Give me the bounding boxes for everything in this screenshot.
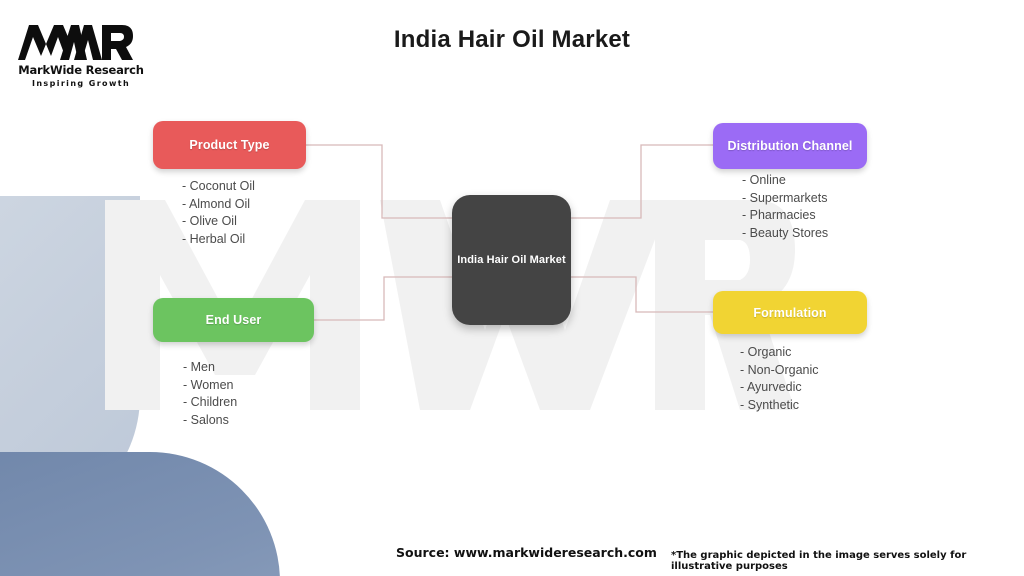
branch-node-end-user[interactable]: End User	[153, 298, 314, 342]
list-item: - Salons	[183, 412, 237, 430]
list-item: - Synthetic	[740, 397, 819, 415]
list-item: - Beauty Stores	[742, 225, 828, 243]
branch-items-distribution-channel: - Online - Supermarkets - Pharmacies - B…	[742, 172, 828, 242]
list-item: - Olive Oil	[182, 213, 255, 231]
branch-label-distribution-channel: Distribution Channel	[728, 139, 853, 153]
list-item: - Herbal Oil	[182, 231, 255, 249]
list-item: - Ayurvedic	[740, 379, 819, 397]
list-item: - Supermarkets	[742, 190, 828, 208]
list-item: - Pharmacies	[742, 207, 828, 225]
list-item: - Non-Organic	[740, 362, 819, 380]
branch-label-end-user: End User	[206, 313, 262, 327]
list-item: - Men	[183, 359, 237, 377]
list-item: - Women	[183, 377, 237, 395]
center-node-label: India Hair Oil Market	[457, 254, 565, 266]
list-item: - Organic	[740, 344, 819, 362]
disclaimer-text: *The graphic depicted in the image serve…	[671, 550, 1024, 572]
list-item: - Coconut Oil	[182, 178, 255, 196]
branch-items-formulation: - Organic - Non-Organic - Ayurvedic - Sy…	[740, 344, 819, 414]
branch-items-end-user: - Men - Women - Children - Salons	[183, 359, 237, 429]
branch-node-distribution-channel[interactable]: Distribution Channel	[713, 123, 867, 169]
diagram-canvas: MarkWide Research Inspiring Growth India…	[0, 0, 1024, 576]
branch-node-product-type[interactable]: Product Type	[153, 121, 306, 169]
branch-node-formulation[interactable]: Formulation	[713, 291, 867, 334]
branch-label-product-type: Product Type	[189, 138, 269, 152]
branch-items-product-type: - Coconut Oil - Almond Oil - Olive Oil -…	[182, 178, 255, 248]
center-node[interactable]: India Hair Oil Market	[452, 195, 571, 325]
list-item: - Children	[183, 394, 237, 412]
list-item: - Almond Oil	[182, 196, 255, 214]
source-text: Source: www.markwideresearch.com	[396, 545, 657, 560]
list-item: - Online	[742, 172, 828, 190]
branch-label-formulation: Formulation	[753, 306, 826, 320]
